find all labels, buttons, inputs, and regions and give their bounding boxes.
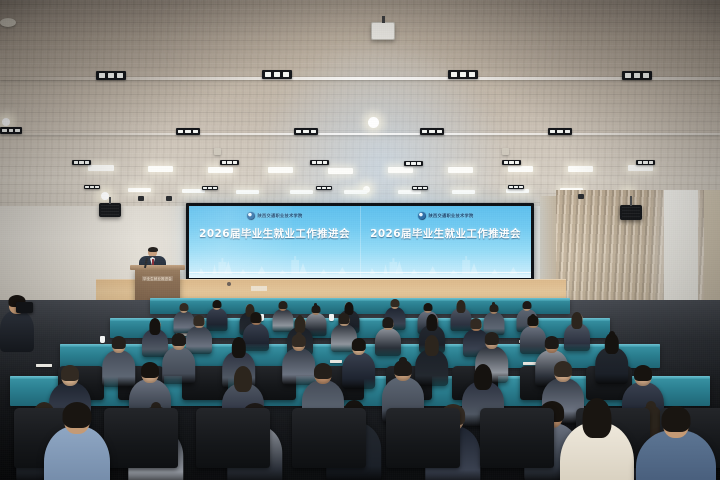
audience-member-hair (571, 312, 582, 328)
stage-paper (251, 286, 267, 291)
track-spotlight (548, 128, 572, 135)
audience-member-hair (338, 313, 349, 323)
audience-member-hair (212, 300, 221, 308)
ceiling-light-panel (398, 190, 421, 194)
ceiling-light-panel (290, 190, 313, 194)
audience-member-torso (342, 352, 376, 389)
camera-operator-torso (0, 310, 34, 352)
ceiling-projector (371, 22, 395, 40)
audience-member-hair (250, 312, 261, 322)
audience-member-hair (314, 363, 332, 379)
ceiling-light-panel (88, 165, 114, 171)
audience-member-hair (634, 365, 652, 381)
track-spotlight (72, 160, 91, 165)
led-screen-content: 陕西交通职业技术学院 2026届毕业生就业工作推进会 陕西交通职业技术学院 20… (189, 206, 531, 278)
audience-member-hair (425, 335, 439, 356)
led-panel-right: 陕西交通职业技术学院 2026届毕业生就业工作推进会 (360, 206, 531, 278)
audience-member-hair (232, 337, 246, 358)
track-spotlight (310, 160, 329, 165)
presenter-hair (148, 247, 158, 253)
audience-member-hair (234, 366, 252, 392)
ceiling-light-panel (268, 167, 293, 173)
audience-member-hair-bun (492, 302, 496, 306)
audience-member-hair (545, 336, 559, 349)
speaker-mount-right (630, 196, 632, 206)
led-display-screen[interactable]: 陕西交通职业技术学院 2026届毕业生就业工作推进会 陕西交通职业技术学院 20… (186, 203, 534, 281)
audience-member-hair (554, 361, 572, 377)
audience-member (375, 318, 401, 359)
audience-member-hair (193, 315, 204, 325)
track-spotlight (448, 70, 478, 79)
wall-speaker-left (99, 203, 121, 217)
audience-member-hair (149, 318, 160, 334)
ceiling-downlight-edge-left (2, 118, 10, 126)
institution-name-right: 陕西交通职业技术学院 (429, 214, 474, 218)
audience-member-white-coat (560, 400, 634, 480)
ceiling-light-panel (628, 165, 653, 171)
audience-member-torso (375, 328, 401, 357)
audience-member-hair (179, 303, 188, 311)
track-spotlight (84, 185, 100, 189)
wall-camera-left (138, 196, 144, 201)
skyline-graphic-right (360, 252, 531, 278)
audience-member-hair-bun (314, 303, 318, 307)
ceiling-light-panel (208, 167, 233, 173)
audience-member-hair (470, 318, 481, 328)
ceiling-rail-2 (0, 133, 720, 135)
wall-camera-left-2 (166, 196, 172, 201)
track-spotlight (220, 160, 239, 165)
wall-speaker-right (620, 205, 642, 220)
audience-member-hair (344, 302, 353, 315)
screen-title-right: 2026届毕业生就业工作推进会 (370, 226, 521, 241)
track-spotlight (502, 160, 521, 165)
audience-member-hair (352, 338, 366, 351)
audience-member-hair (662, 406, 691, 432)
audience-member-blue-shirt (44, 404, 110, 480)
track-spotlight (508, 185, 524, 189)
speaker-mount-left (109, 197, 111, 204)
ceiling-light-panel (506, 189, 529, 193)
audience-member-hair (485, 332, 499, 345)
audience-chair (480, 408, 554, 468)
ceiling-light-panel (388, 167, 413, 173)
audience-member-hair (61, 365, 79, 381)
audience-chair (292, 408, 366, 468)
audience-member-hair (172, 333, 186, 346)
audience-member-hair (141, 362, 159, 378)
ceiling-projector-glow (259, 39, 504, 214)
audience-member (342, 339, 376, 392)
track-spotlight (636, 160, 655, 165)
lectern-plaque: 毕业生就业推进会 (142, 276, 173, 281)
audience-chair (104, 408, 178, 468)
camera-operator (0, 296, 34, 352)
audience-member-hair (63, 402, 92, 428)
audience-area (0, 300, 720, 480)
audience-member-hair (112, 336, 126, 349)
lectern-plaque-text: 毕业生就业推进会 (143, 276, 172, 281)
audience-member-hair (522, 301, 531, 309)
wall-camera-right (578, 194, 584, 199)
ceiling-light-panel (448, 167, 473, 173)
track-spotlight (412, 186, 428, 190)
ceiling (0, 0, 720, 214)
ceiling-vent (0, 18, 16, 27)
ceiling-light-panel (236, 190, 259, 194)
track-spotlight (262, 70, 292, 79)
audience-member-hair-bun (609, 331, 615, 337)
track-spotlight (0, 127, 22, 134)
audience-member-hair (426, 314, 437, 330)
audience-member-hair (474, 364, 492, 390)
track-spotlight (420, 128, 444, 135)
ceiling-light-panel (328, 168, 353, 174)
audience-member-denim (636, 408, 716, 480)
ceiling-light-panel (568, 166, 593, 172)
ceiling-light-panel (344, 190, 367, 194)
ceiling-sensor-right (502, 148, 509, 155)
track-spotlight (316, 186, 332, 190)
audience-member-hair (456, 300, 465, 313)
audience-chair (196, 408, 270, 468)
stage-mic-dot (227, 282, 231, 286)
ceiling-light-panel (508, 166, 533, 172)
conference-photo: 陕西交通职业技术学院 2026届毕业生就业工作推进会 陕西交通职业技术学院 20… (0, 0, 720, 480)
audience-member-hair (382, 317, 393, 327)
video-camera-icon (16, 302, 33, 313)
audience-chair (386, 408, 460, 468)
track-spotlight (622, 71, 652, 80)
lectern-top (130, 265, 185, 270)
track-spotlight (404, 161, 423, 166)
track-spotlight (202, 186, 218, 190)
screen-glare (189, 206, 292, 278)
audience-member-hair (390, 299, 399, 307)
ceiling-light-panel (148, 166, 173, 172)
audience-member-hair (583, 398, 612, 438)
ceiling-sensor-left (214, 148, 221, 155)
screen-logo-right: 陕西交通职业技术学院 (418, 212, 474, 220)
audience-member-hair-bun (296, 332, 302, 338)
ceiling-downlight-left (101, 192, 109, 200)
skyline-waterline-right (360, 272, 531, 273)
track-spotlight (96, 71, 126, 80)
audience-member-hair (423, 303, 432, 311)
track-spotlight (294, 128, 318, 135)
ceiling-light-panel (452, 190, 475, 194)
institution-emblem-icon (418, 212, 426, 220)
audience-member-hair (278, 301, 287, 309)
ceiling-downlight-center (368, 117, 379, 128)
ceiling-light-panel (128, 188, 151, 192)
document-sheet (330, 360, 342, 363)
audience-member-torso (44, 426, 110, 480)
track-spotlight (176, 128, 200, 135)
